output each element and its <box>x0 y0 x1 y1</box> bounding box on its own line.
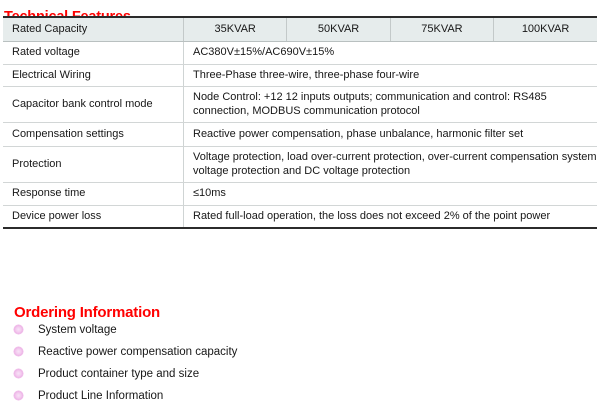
list-item-label: Reactive power compensation capacity <box>38 346 237 358</box>
table-row: Protection Voltage protection, load over… <box>3 147 597 183</box>
row-label-protection: Protection <box>3 147 184 183</box>
row-value-device-power-loss: Rated full-load operation, the loss does… <box>184 205 598 228</box>
table-header-label: Rated Capacity <box>3 17 184 42</box>
row-value-protection: Voltage protection, load over-current pr… <box>184 147 598 183</box>
list-item: System voltage <box>14 319 574 341</box>
list-item: Product Line Information <box>14 385 574 407</box>
technical-specifications-table: Rated Capacity 35KVAR 50KVAR 75KVAR 100K… <box>3 16 597 229</box>
list-item-label: System voltage <box>38 324 117 336</box>
row-label-response-time: Response time <box>3 183 184 206</box>
technical-specifications-table-wrapper: Rated Capacity 35KVAR 50KVAR 75KVAR 100K… <box>3 16 597 229</box>
bullet-icon <box>14 369 23 378</box>
list-item: Reactive power compensation capacity <box>14 341 574 363</box>
table-header-row: Rated Capacity 35KVAR 50KVAR 75KVAR 100K… <box>3 17 597 42</box>
table-row: Compensation settings Reactive power com… <box>3 123 597 147</box>
table-header-capacity-1: 35KVAR <box>184 17 287 42</box>
row-value-rated-voltage: AC380V±15%/AC690V±15% <box>184 42 598 65</box>
ordering-information-list: System voltage Reactive power compensati… <box>14 319 574 407</box>
row-value-capacitor-bank-control-mode: Node Control: +12 12 inputs outputs; com… <box>184 87 598 123</box>
list-item: Product container type and size <box>14 363 574 385</box>
bullet-icon <box>14 347 23 356</box>
table-row: Electrical Wiring Three-Phase three-wire… <box>3 64 597 87</box>
table-row: Capacitor bank control mode Node Control… <box>3 87 597 123</box>
table-row: Rated voltage AC380V±15%/AC690V±15% <box>3 42 597 65</box>
bullet-icon <box>14 391 23 400</box>
row-value-compensation-settings: Reactive power compensation, phase unbal… <box>184 123 598 147</box>
row-label-rated-voltage: Rated voltage <box>3 42 184 65</box>
row-value-electrical-wiring: Three-Phase three-wire, three-phase four… <box>184 64 598 87</box>
row-label-electrical-wiring: Electrical Wiring <box>3 64 184 87</box>
list-item-label: Product container type and size <box>38 368 199 380</box>
table-row: Device power loss Rated full-load operat… <box>3 205 597 228</box>
table-header-capacity-3: 75KVAR <box>390 17 493 42</box>
table-header-capacity-2: 50KVAR <box>287 17 390 42</box>
table-header-capacity-4: 100KVAR <box>494 17 597 42</box>
row-value-response-time: ≤10ms <box>184 183 598 206</box>
row-label-capacitor-bank-control-mode: Capacitor bank control mode <box>3 87 184 123</box>
row-label-compensation-settings: Compensation settings <box>3 123 184 147</box>
row-label-device-power-loss: Device power loss <box>3 205 184 228</box>
datasheet-page: Technical Features Rated Capacity 35KVAR… <box>0 0 600 402</box>
bullet-icon <box>14 325 23 334</box>
table-row: Response time ≤10ms <box>3 183 597 206</box>
list-item-label: Product Line Information <box>38 390 163 402</box>
